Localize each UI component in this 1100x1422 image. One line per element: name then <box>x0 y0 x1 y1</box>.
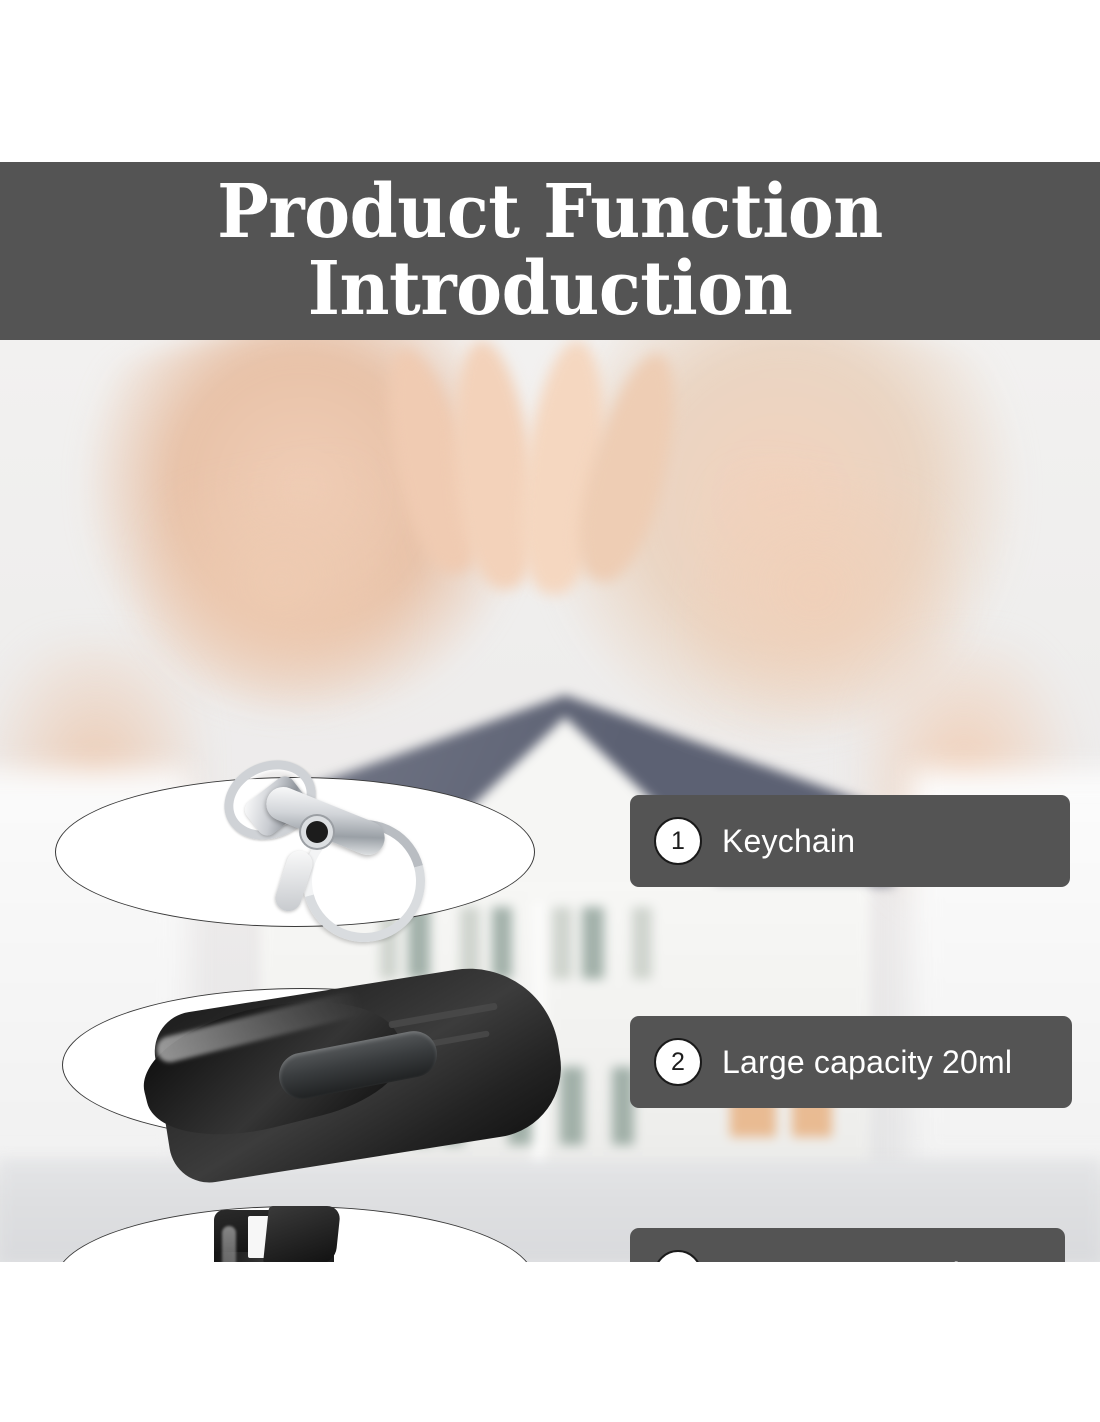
feature-number-badge-1: 1 <box>654 817 702 865</box>
house-window <box>582 907 604 979</box>
page-title: Product Function Introduction <box>39 162 1062 340</box>
feature-chip-3[interactable]: 3 Press type nozzle <box>630 1228 1065 1262</box>
product-photo-stage: 1 Keychain 2 Large capacity 20ml 3 Press… <box>0 340 1100 1262</box>
feature-number-badge-3: 3 <box>654 1250 702 1262</box>
callout-oval-2 <box>62 988 542 1142</box>
feature-label-2: Large capacity 20ml <box>722 1044 1012 1081</box>
feature-chip-2[interactable]: 2 Large capacity 20ml <box>630 1016 1072 1108</box>
house-window <box>552 907 572 979</box>
house-window <box>460 907 480 979</box>
page-title-line-1: Product Function <box>217 176 883 249</box>
house-window <box>560 1067 584 1145</box>
page-title-line-2: Introduction <box>308 253 793 326</box>
feature-chip-1[interactable]: 1 Keychain <box>630 795 1070 887</box>
infographic-page: Product Function Introduction <box>0 0 1100 1422</box>
house-window <box>632 907 652 979</box>
feature-number-badge-2: 2 <box>654 1038 702 1086</box>
house-window <box>492 907 512 979</box>
feature-label-1: Keychain <box>722 823 855 860</box>
callout-oval-1 <box>55 777 535 927</box>
header-band: Product Function Introduction <box>0 162 1100 340</box>
house-window <box>408 907 430 979</box>
feature-label-3: Press type nozzle <box>722 1256 978 1263</box>
